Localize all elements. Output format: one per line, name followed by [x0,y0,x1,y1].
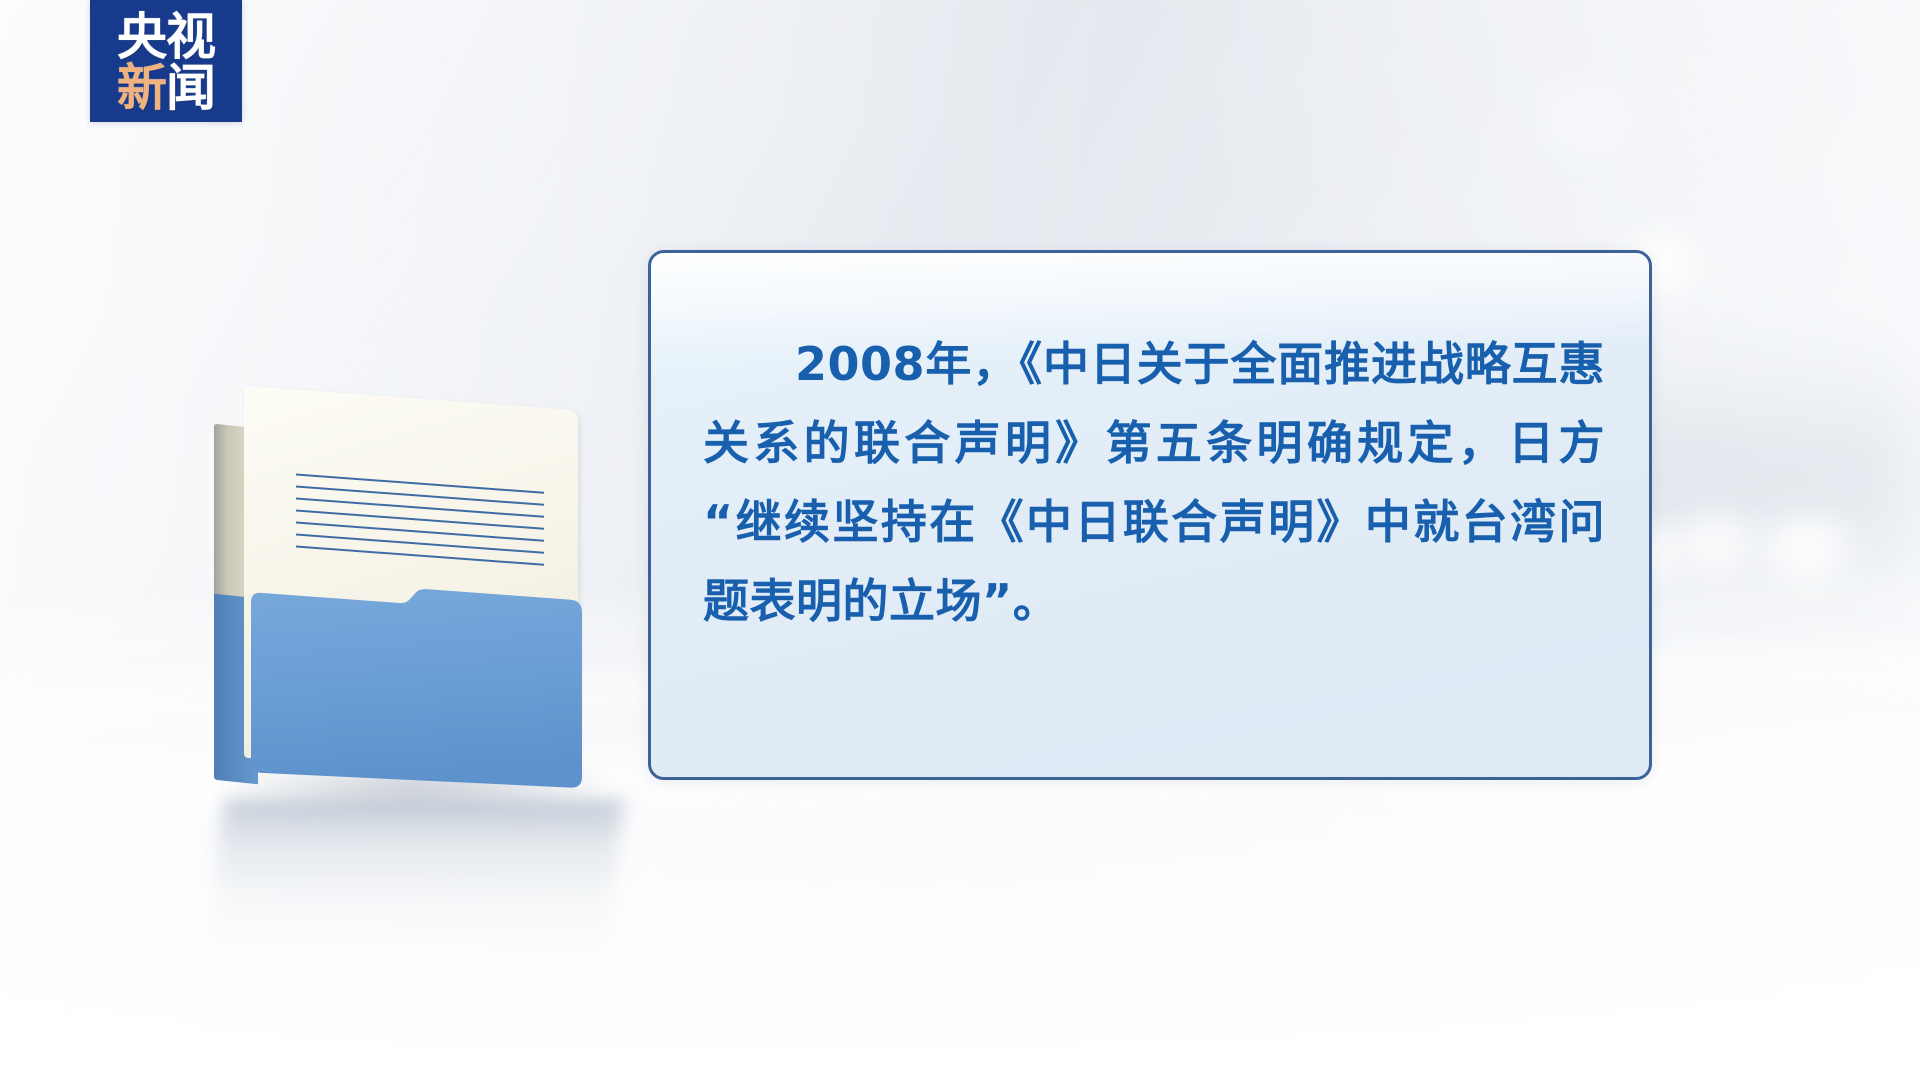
quote-text: 2008年，《中日关于全面推进战略互惠关系的联合声明》第五条明确规定，日方“继续… [651,253,1649,641]
document-text-line [296,474,544,494]
logo-char-yang: 央视 [117,12,215,63]
logo-line-bottom: 新闻 [117,63,215,114]
folder-front-flap [241,575,584,800]
quote-card: 2008年，《中日关于全面推进战略互惠关系的联合声明》第五条明确规定，日方“继续… [648,250,1652,780]
logo-char-wen: 闻 [166,63,215,114]
bokeh-light [1758,517,1862,587]
bokeh-light [1525,80,1655,160]
document-folder-icon [214,398,614,818]
bokeh-light [1672,515,1764,581]
logo-line-top: 央视 [117,12,215,63]
document-text-lines [296,474,544,570]
folder-reflection [204,799,624,961]
logo-char-xin: 新 [117,63,166,114]
screen-root: 央视 新闻 [0,0,1920,1080]
cctv-news-logo: 央视 新闻 [90,0,242,122]
